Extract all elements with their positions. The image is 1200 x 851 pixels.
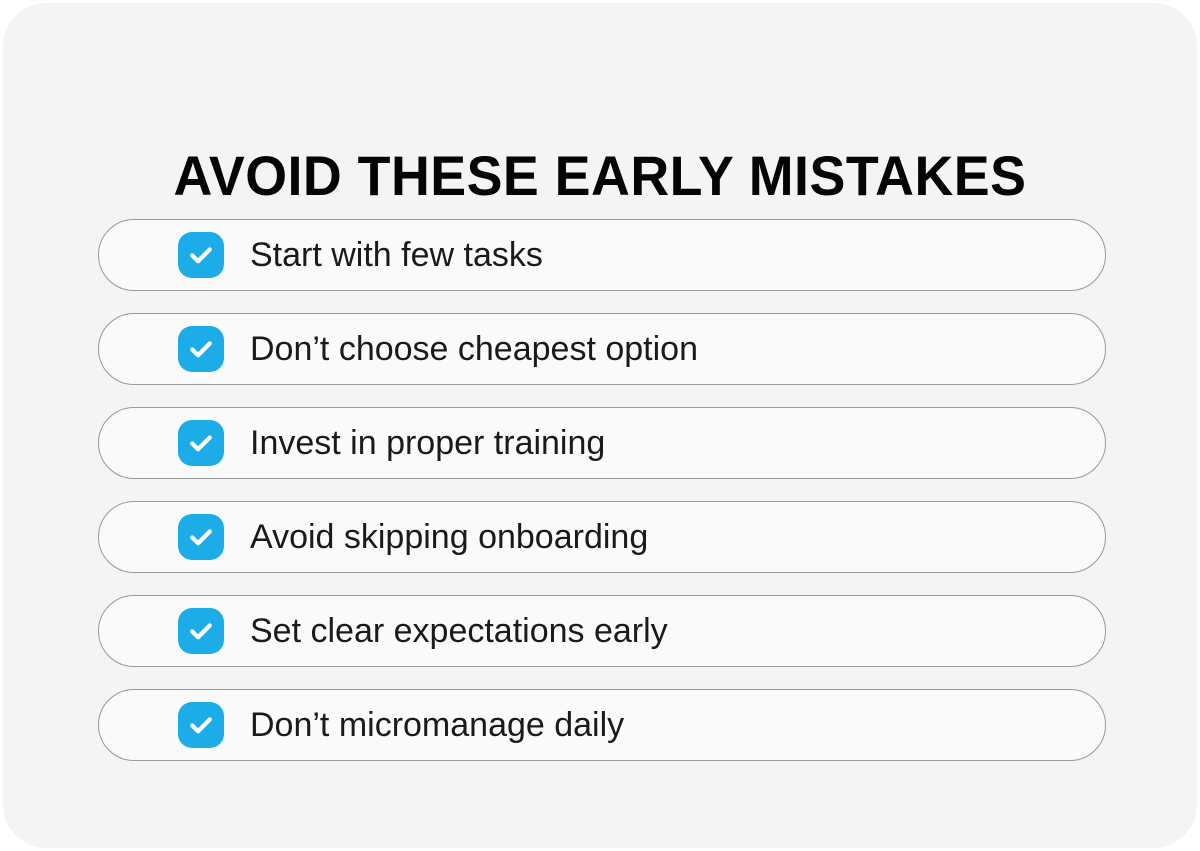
checkbox-checked[interactable] [178, 232, 224, 278]
checkbox-checked[interactable] [178, 420, 224, 466]
checklist-item[interactable]: Invest in proper training [98, 407, 1106, 479]
checkbox-checked[interactable] [178, 608, 224, 654]
checklist-item-label: Start with few tasks [250, 235, 543, 275]
page-canvas: AVOID THESE EARLY MISTAKES Start with fe… [0, 0, 1200, 851]
checklist: Start with few tasks Don’t choose cheape… [98, 219, 1106, 761]
checklist-item-label: Invest in proper training [250, 423, 605, 463]
checklist-item-label: Set clear expectations early [250, 611, 668, 651]
checklist-item[interactable]: Avoid skipping onboarding [98, 501, 1106, 573]
checkmark-icon [186, 616, 216, 646]
checkmark-icon [186, 334, 216, 364]
checklist-item[interactable]: Set clear expectations early [98, 595, 1106, 667]
checklist-item[interactable]: Start with few tasks [98, 219, 1106, 291]
checklist-card: AVOID THESE EARLY MISTAKES Start with fe… [3, 3, 1197, 848]
checkmark-icon [186, 240, 216, 270]
checklist-item-label: Avoid skipping onboarding [250, 517, 648, 557]
checkmark-icon [186, 710, 216, 740]
checkbox-checked[interactable] [178, 514, 224, 560]
checklist-item[interactable]: Don’t micromanage daily [98, 689, 1106, 761]
checkmark-icon [186, 522, 216, 552]
checklist-item[interactable]: Don’t choose cheapest option [98, 313, 1106, 385]
checkbox-checked[interactable] [178, 326, 224, 372]
checkbox-checked[interactable] [178, 702, 224, 748]
page-title: AVOID THESE EARLY MISTAKES [27, 144, 1173, 208]
checklist-item-label: Don’t micromanage daily [250, 705, 624, 745]
checkmark-icon [186, 428, 216, 458]
checklist-item-label: Don’t choose cheapest option [250, 329, 698, 369]
